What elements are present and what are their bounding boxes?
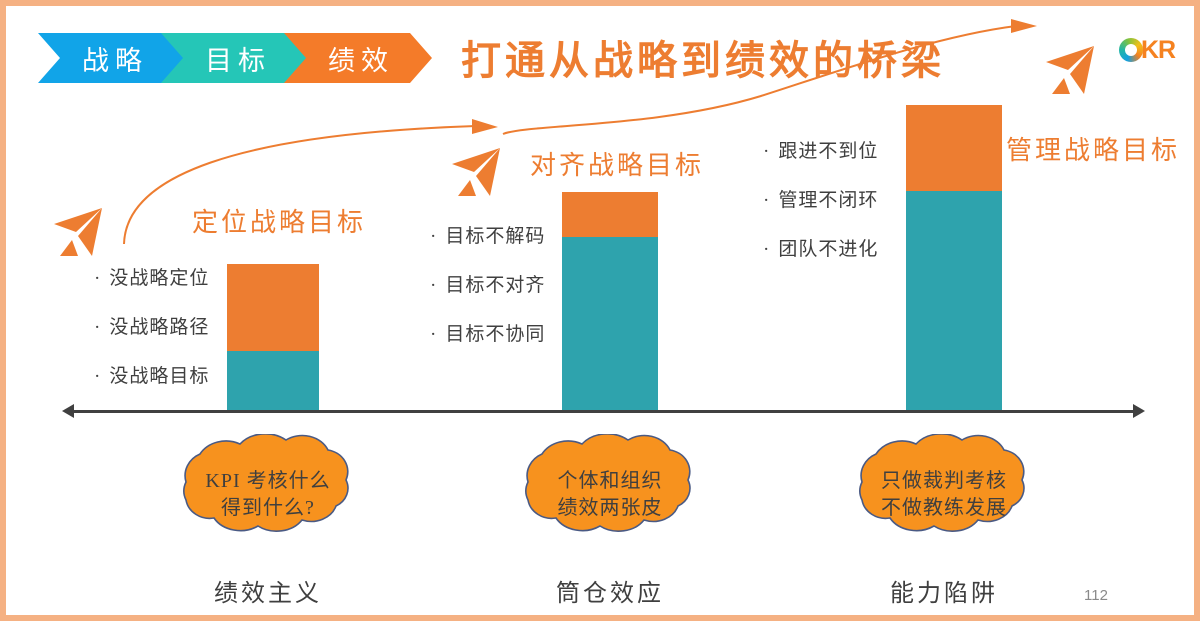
- page-title: 打通从战略到绩效的桥梁: [461, 28, 945, 86]
- bar-segment-orange: [906, 105, 1002, 191]
- page-number: 112: [1084, 587, 1108, 604]
- okr-logo-text: KR: [1141, 38, 1175, 63]
- section-heading-3: 管理战略目标: [1006, 130, 1180, 167]
- category-label-2: 筒仓效应: [490, 573, 730, 608]
- bullet-dot-icon: ·: [94, 366, 101, 387]
- ribbon-step-label: 战略: [76, 39, 148, 78]
- ribbon-step-strategy[interactable]: 战略: [38, 33, 186, 83]
- bar-segment-orange: [227, 264, 319, 351]
- axis-arrow-left-icon: [62, 404, 74, 418]
- bullet-dot-icon: ·: [763, 190, 770, 211]
- bullet-list-3: ·跟进不到位 ·管理不闭环 ·团队不进化: [763, 136, 878, 283]
- bar-segment-teal: [227, 351, 319, 411]
- list-item: ·没战略定位: [94, 263, 209, 290]
- section-heading-2: 对齐战略目标: [530, 145, 704, 182]
- cloud-text-2: 个体和组织 绩效两张皮: [490, 434, 730, 554]
- list-item: ·目标不对齐: [430, 270, 545, 297]
- ribbon-step-performance[interactable]: 绩效: [284, 33, 432, 83]
- cloud-text-3: 只做裁判考核 不做教练发展: [824, 434, 1064, 554]
- paper-plane-icon-3: [1046, 46, 1094, 94]
- list-item: ·团队不进化: [763, 234, 878, 261]
- bullet-list-2: ·目标不解码 ·目标不对齐 ·目标不协同: [430, 221, 545, 368]
- bullet-dot-icon: ·: [430, 226, 437, 247]
- category-label-3: 能力陷阱: [824, 573, 1064, 608]
- bullet-dot-icon: ·: [94, 317, 101, 338]
- okr-circle-icon: [1119, 38, 1143, 62]
- stacked-bar-2: [562, 192, 658, 411]
- stacked-bar-1: [227, 264, 319, 411]
- bullet-dot-icon: ·: [94, 268, 101, 289]
- bar-segment-orange: [562, 192, 658, 237]
- cloud-text-1: KPI 考核什么 得到什么?: [148, 434, 388, 554]
- list-item: ·没战略目标: [94, 361, 209, 388]
- paper-plane-icon-2: [452, 148, 500, 196]
- bar-segment-teal: [906, 191, 1002, 411]
- bullet-dot-icon: ·: [430, 275, 437, 296]
- list-item: ·没战略路径: [94, 312, 209, 339]
- paper-plane-icon-1: [54, 208, 102, 256]
- category-label-1: 绩效主义: [148, 573, 388, 608]
- ribbon-step-label: 绩效: [322, 39, 394, 78]
- axis-arrow-right-icon: [1133, 404, 1145, 418]
- bullet-dot-icon: ·: [763, 141, 770, 162]
- bullet-dot-icon: ·: [430, 324, 437, 345]
- cloud-callout-2: 个体和组织 绩效两张皮: [490, 434, 730, 554]
- list-item: ·跟进不到位: [763, 136, 878, 163]
- list-item: ·目标不解码: [430, 221, 545, 248]
- okr-logo: KR: [1119, 35, 1175, 65]
- baseline-axis: [68, 410, 1141, 413]
- cloud-callout-3: 只做裁判考核 不做教练发展: [824, 434, 1064, 554]
- bar-segment-teal: [562, 237, 658, 411]
- bullet-list-1: ·没战略定位 ·没战略路径 ·没战略目标: [94, 263, 209, 410]
- list-item: ·管理不闭环: [763, 185, 878, 212]
- cloud-callout-1: KPI 考核什么 得到什么?: [148, 434, 388, 554]
- bullet-dot-icon: ·: [763, 239, 770, 260]
- slide-canvas: 战略 目标 绩效 打通从战略到绩效的桥梁 KR: [0, 0, 1200, 621]
- stacked-bar-3: [906, 105, 1002, 411]
- ribbon-step-label: 目标: [199, 39, 271, 78]
- section-heading-1: 定位战略目标: [192, 202, 366, 239]
- ribbon-step-objective[interactable]: 目标: [161, 33, 309, 83]
- list-item: ·目标不协同: [430, 319, 545, 346]
